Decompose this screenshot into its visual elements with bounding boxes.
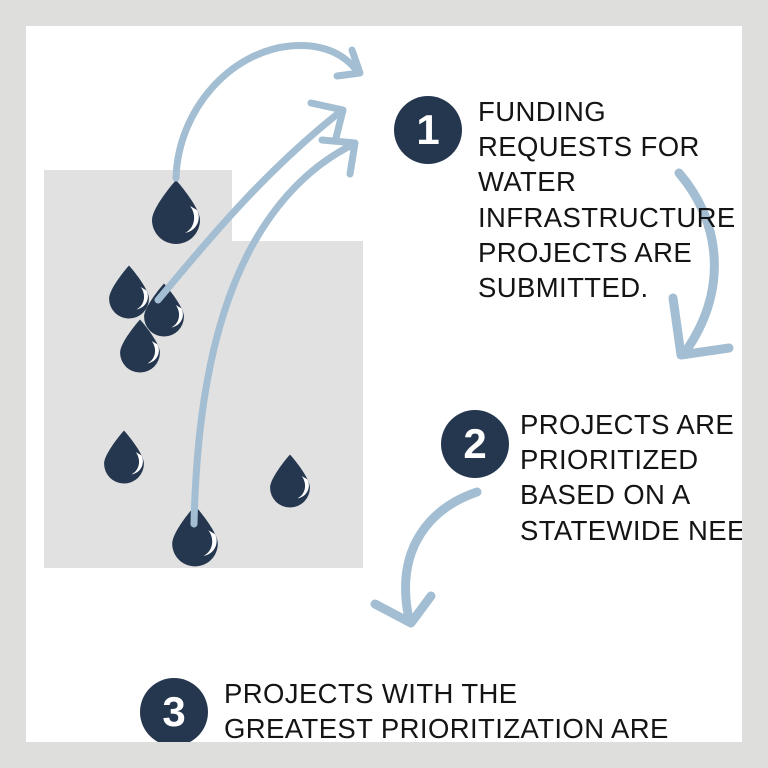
step-2-number: 2 [463,423,486,465]
water-droplet [120,319,160,372]
water-droplet [144,283,184,336]
step-3-number-badge: 3 [140,678,208,742]
step-1-number-badge: 1 [394,96,462,164]
infographic-canvas: 1 2 3 FUNDING REQUESTS FOR WATER INFRAST… [26,26,742,742]
step-3-text: PROJECTS WITH THE GREATEST PRIORITIZATIO… [224,676,674,742]
water-droplet [104,430,144,483]
infographic-page: 1 2 3 FUNDING REQUESTS FOR WATER INFRAST… [0,0,768,768]
step-1-number: 1 [416,109,439,151]
step-2-text: PROJECTS ARE PRIORITIZED BASED ON A STAT… [520,407,742,548]
arrow-step-2-to-step-3 [375,492,477,623]
water-droplet [172,506,218,567]
arrow-map-to-step-1-upper [176,46,360,178]
step-3-number: 3 [162,691,185,733]
arrow-map-to-step-1-middle [158,103,343,300]
step-2-number-badge: 2 [441,410,509,478]
water-droplet [270,454,310,507]
step-1-text: FUNDING REQUESTS FOR WATER INFRASTRUCTUR… [478,94,742,305]
water-droplet [109,265,149,318]
arrow-map-to-step-1-lower [194,140,355,524]
water-droplet [152,180,200,244]
droplet-group [104,180,310,566]
utah-map-shape [44,170,363,568]
